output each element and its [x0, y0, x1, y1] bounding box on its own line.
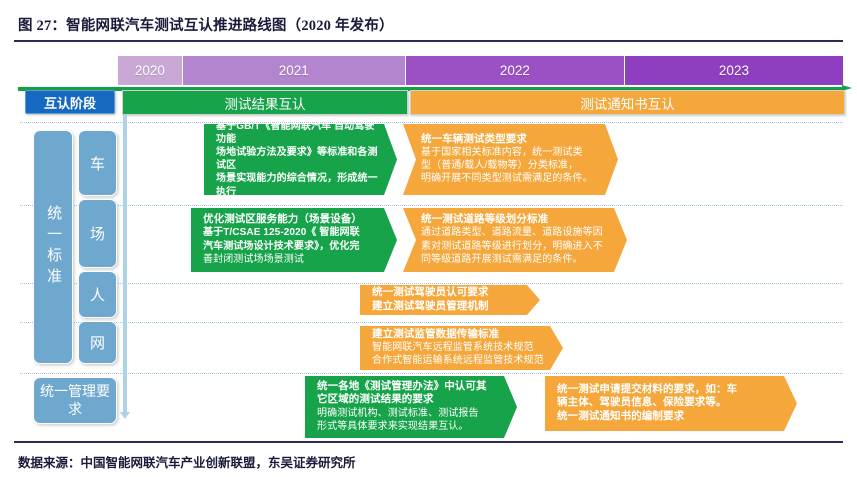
box-unified-road-grade[interactable]: 统一测试道路等级划分标准 通过道路类型、道路流量、道路设施等因 素对测试道路等级… [403, 208, 627, 272]
box-heading: 统一各地《测试管理办法》中认可其 [317, 380, 501, 393]
timeline-vertical-arrow-icon [120, 412, 130, 419]
row-divider-4 [20, 322, 843, 323]
row-divider-1 [20, 122, 843, 123]
row-divider-2 [20, 205, 843, 206]
box-line: 智能网联汽车远程监管系统技术规范 [372, 341, 547, 354]
box-heading: 统一测试道路等级划分标准 [421, 213, 611, 226]
box-line: 合作式智能运输系统远程监管技术规范 [372, 354, 547, 367]
phase-test-notice-mutual-recognition[interactable]: 测试通知书互认 [410, 90, 845, 115]
sidebar-item-network[interactable]: 网 [78, 321, 117, 364]
row-divider-5 [20, 373, 843, 374]
box-line: 明确开展不同类型测试需满足的条件。 [421, 172, 602, 185]
box-line: 素对测试道路等级进行划分，明确进入不 [421, 240, 611, 253]
box-heading: 它区域的测试结果的要求 [317, 393, 501, 406]
box-line: 通过道路类型、道路流量、道路设施等因 [421, 226, 611, 239]
sidebar-group-unified-standard[interactable]: 统一标准 [33, 130, 73, 364]
box-heading: 统一测试通知书的编制要求 [557, 410, 781, 423]
figure-title: 图 27：智能网联汽车测试互认推进路线图（2020 年发布） [18, 14, 394, 35]
box-line: 场地试验方法及要求》等标准和各测试区 [216, 146, 381, 172]
box-heading: 统一测试申请提交材料的要求，如：车 [557, 383, 781, 396]
timeline-year-bar: 2020 2021 2022 2023 [118, 56, 843, 85]
row-divider-3 [20, 283, 843, 284]
box-line: 明确测试机构、测试标准、测试报告 [317, 407, 501, 420]
phase-test-result-mutual-recognition[interactable]: 测试结果互认 [122, 90, 408, 115]
box-supervision-data-standard[interactable]: 建立测试监管数据传输标准 智能网联汽车远程监管系统技术规范 合作式智能运输系统远… [360, 326, 563, 370]
sidebar-item-vehicle[interactable]: 车 [78, 130, 117, 196]
box-heading: 统一车辆测试类型要求 [421, 133, 602, 146]
box-line: 同等级道路开展测试需满足的条件。 [421, 253, 611, 266]
box-heading: 建立测试监管数据传输标准 [372, 328, 547, 341]
source-divider [14, 441, 843, 443]
title-divider-top [14, 40, 843, 42]
box-line: 建立测试驾驶员管理机制 [372, 300, 524, 313]
year-cell-2021[interactable]: 2021 [183, 56, 406, 85]
box-unified-vehicle-test-type[interactable]: 统一车辆测试类型要求 基于国家相关标准内容，统一测试类 型（普通/载人/载物等）… [403, 124, 618, 195]
year-cell-2022[interactable]: 2022 [406, 56, 625, 85]
box-optimize-test-zone-service[interactable]: 优化测试区服务能力（场景设备） 基于T/CSAE 125-2020《 智能网联 … [191, 208, 397, 272]
year-cell-2020[interactable]: 2020 [118, 56, 183, 85]
sidebar-group-unified-management[interactable]: 统一管理要求 [33, 377, 117, 424]
phase-row-label: 互认阶段 [25, 90, 115, 114]
sidebar-item-site[interactable]: 场 [78, 199, 117, 268]
source-note: 数据来源：中国智能网联汽车产业创新联盟，东吴证券研究所 [18, 452, 356, 471]
box-unified-application-materials[interactable]: 统一测试申请提交材料的要求，如：车 辆主体、驾驶员信息、保险要求等。 统一测试通… [545, 376, 797, 431]
box-line: 汽车测试场设计技术要求》，优化完 [203, 240, 381, 253]
sidebar-item-person[interactable]: 人 [78, 271, 117, 318]
box-heading: 辆主体、驾驶员信息、保险要求等。 [557, 396, 781, 409]
box-line: 型（普通/载人/载物等）分类标准， [421, 159, 602, 172]
box-line: 基于国家相关标准内容，统一测试类 [421, 146, 602, 159]
box-line: 形式等具体要求来实现结果互认。 [317, 420, 501, 433]
year-cell-2023[interactable]: 2023 [625, 56, 843, 85]
sidebar-group-unified-standard-label: 统一标准 [43, 205, 63, 289]
box-heading: 优化测试区服务能力（场景设备） [203, 213, 381, 226]
box-unified-driver-approval[interactable]: 统一测试驾驶员认可要求 建立测试驾驶员管理机制 [360, 285, 540, 315]
box-line: 基于T/CSAE 125-2020《 智能网联 [203, 226, 381, 239]
box-unified-local-measures[interactable]: 统一各地《测试管理办法》中认可其 它区域的测试结果的要求 明确测试机构、测试标准… [305, 376, 517, 438]
timeline-vertical-line [123, 114, 127, 414]
box-line: 场景实现能力的综合情况，形成统一执行 [216, 172, 381, 198]
box-heading: 统一测试驾驶员认可要求 [372, 286, 524, 299]
box-unified-all-test-items[interactable]: 统一全部测试项目 基于GB/T《智能网联汽车 自动驾驶功能 场地试验方法及要求》… [204, 124, 397, 195]
box-line: 善封闭测试场场景测试 [203, 253, 381, 266]
box-line: 基于GB/T《智能网联汽车 自动驾驶功能 [216, 120, 381, 146]
